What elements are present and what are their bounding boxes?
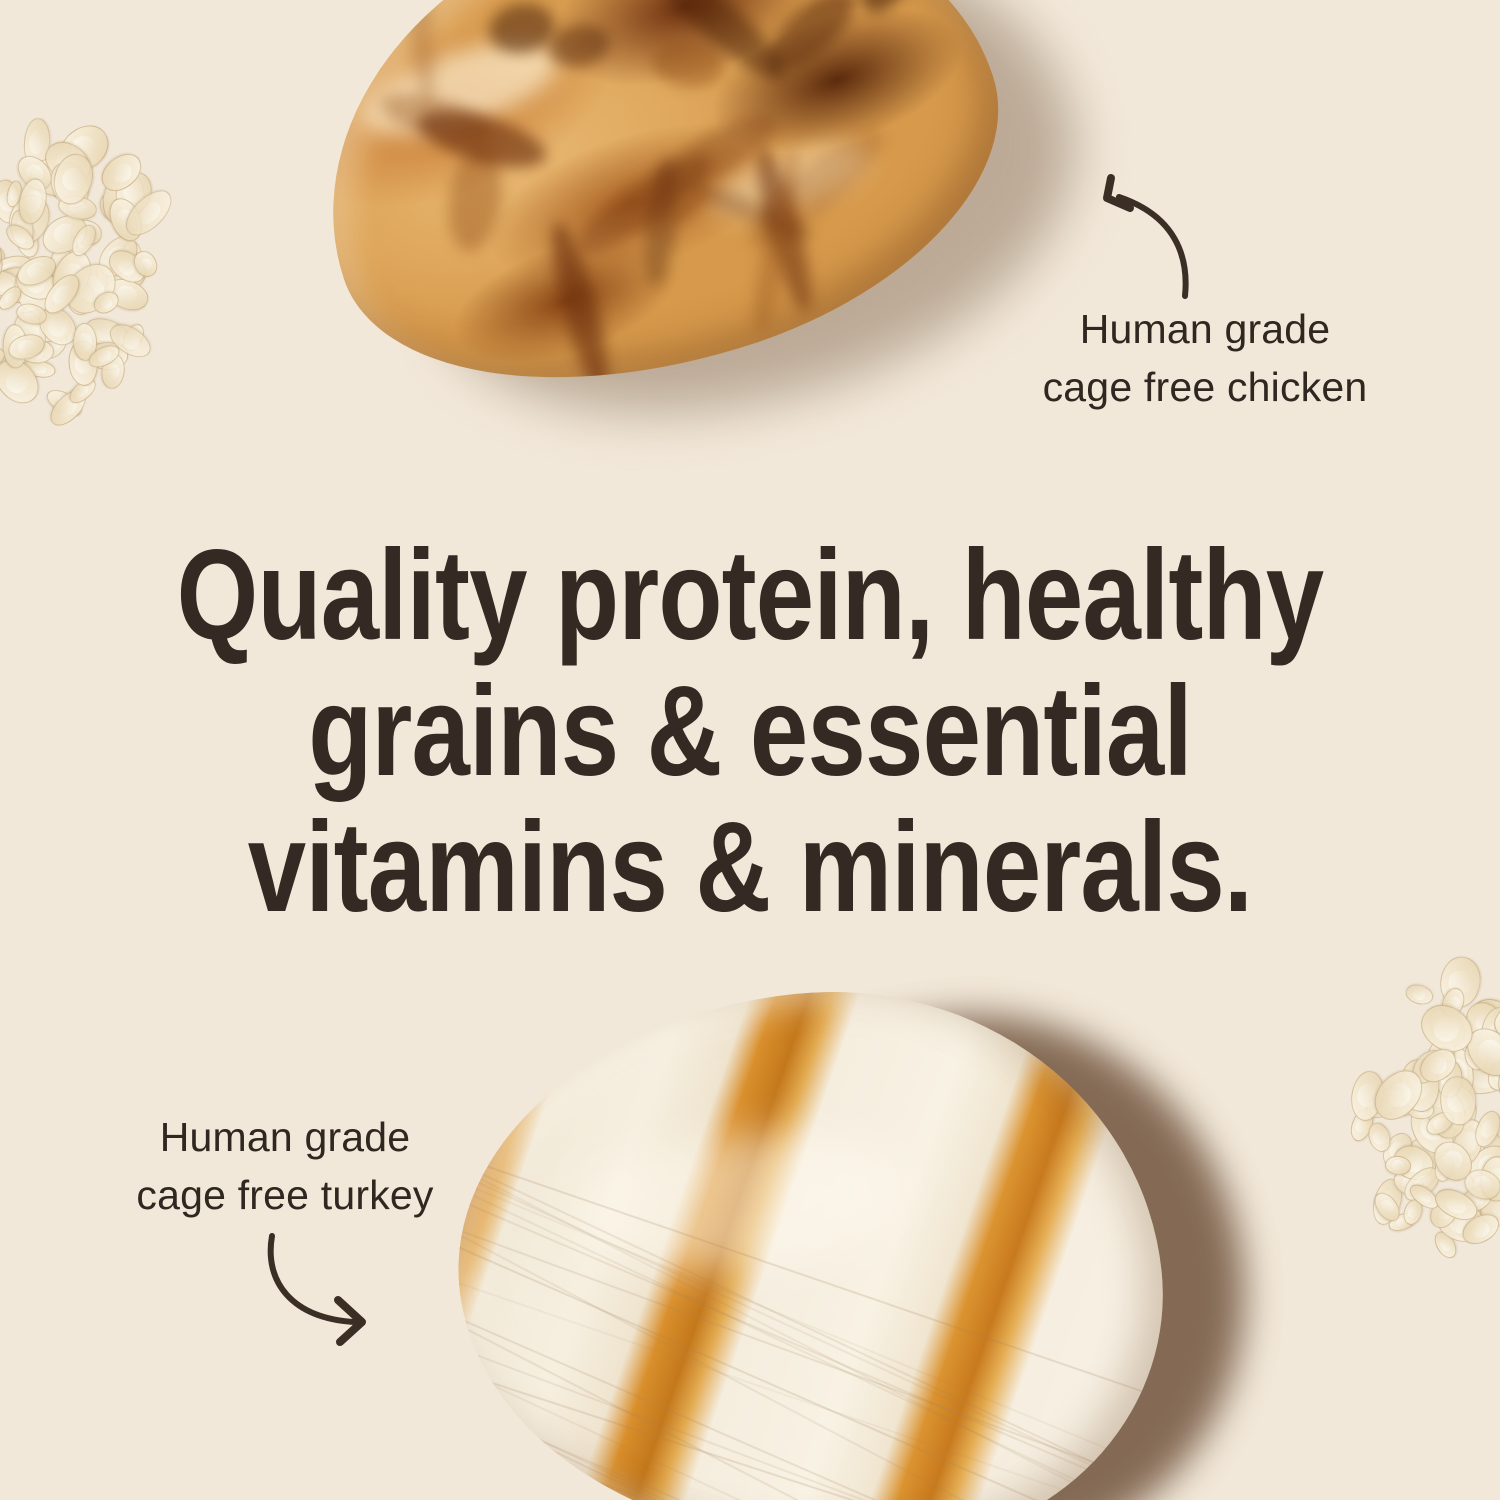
curved-arrow-down-right-icon [258,1230,398,1350]
turkey-grain-line [433,1287,1185,1500]
headline-line-3: vitamins & minerals. [135,800,1365,936]
page-headline: Quality protein, healthy grains & essent… [135,528,1365,936]
rolled-oats-cluster-right [1290,900,1500,1330]
chicken-sear-mark [649,36,725,90]
rolled-oats-cluster-left [0,60,240,480]
headline-line-2: grains & essential [135,664,1365,800]
product-feature-panel: Human grade cage free chicken Quality pr… [0,0,1500,1500]
curved-arrow-up-left-icon [1085,170,1225,300]
chicken-sear-mark [844,0,960,23]
callout-chicken-line1: Human grade [1010,300,1400,358]
callout-chicken-line2: cage free chicken [1010,358,1400,416]
headline-line-1: Quality protein, healthy [135,528,1365,664]
callout-chicken: Human grade cage free chicken [1010,300,1400,416]
sliced-roast-turkey-photo [371,935,1229,1500]
turkey-gloss-highlight [572,1119,906,1286]
oat-flake [1403,981,1436,1007]
grilled-chicken-breast-photo [232,0,1109,531]
